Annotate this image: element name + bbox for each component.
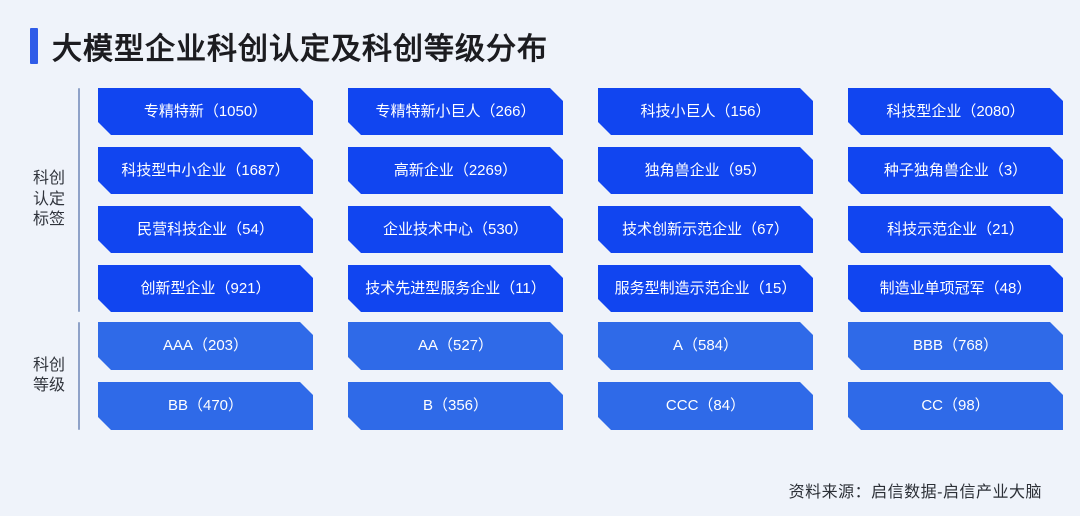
badge-label: 民营科技企业（54）: [137, 221, 274, 239]
badge-item[interactable]: 科技型企业（2080）: [848, 88, 1063, 135]
badge-label: 专精特新（1050）: [144, 103, 267, 121]
badge-label: CCC（84）: [666, 397, 745, 415]
badge-label: BB（470）: [168, 397, 243, 415]
section-innovation-grades: 科创等级 AAA（203） AA（527） A（584） BBB（768） BB…: [0, 322, 1080, 430]
badge-label: A（584）: [673, 337, 738, 355]
badge-item[interactable]: 科技型中小企业（1687）: [98, 147, 313, 194]
badge-row: 民营科技企业（54） 企业技术中心（530） 技术创新示范企业（67） 科技示范…: [98, 206, 1080, 253]
badge-item[interactable]: 技术创新示范企业（67）: [598, 206, 813, 253]
section-axis-label: 科创等级: [32, 322, 66, 430]
section-axis: 科创认定标签: [0, 88, 80, 312]
badge-label: CC（98）: [921, 397, 989, 415]
badge-item[interactable]: 服务型制造示范企业（15）: [598, 265, 813, 312]
badge-item[interactable]: 制造业单项冠军（48）: [848, 265, 1063, 312]
badge-item[interactable]: CCC（84）: [598, 382, 813, 430]
badge-item[interactable]: 种子独角兽企业（3）: [848, 147, 1063, 194]
badge-item[interactable]: 专精特新小巨人（266）: [348, 88, 563, 135]
badge-label: 服务型制造示范企业（15）: [615, 280, 797, 298]
badge-item[interactable]: 科技小巨人（156）: [598, 88, 813, 135]
badge-item[interactable]: BBB（768）: [848, 322, 1063, 370]
badge-item[interactable]: AA（527）: [348, 322, 563, 370]
badge-row: 科技型中小企业（1687） 高新企业（2269） 独角兽企业（95） 种子独角兽…: [98, 147, 1080, 194]
badge-label: B（356）: [423, 397, 488, 415]
badge-row: AAA（203） AA（527） A（584） BBB（768）: [98, 322, 1080, 370]
badge-label: 科技型中小企业（1687）: [121, 162, 289, 180]
badge-item[interactable]: B（356）: [348, 382, 563, 430]
page-title: 大模型企业科创认定及科创等级分布: [52, 24, 548, 68]
source-note: 资料来源：启信数据-启信产业大脑: [789, 478, 1042, 502]
badge-item[interactable]: 技术先进型服务企业（11）: [348, 265, 563, 312]
section-axis: 科创等级: [0, 322, 80, 430]
badge-label: 种子独角兽企业（3）: [884, 162, 1027, 180]
badge-item[interactable]: 独角兽企业（95）: [598, 147, 813, 194]
badge-label: 企业技术中心（530）: [383, 221, 528, 239]
badge-label: 专精特新小巨人（266）: [375, 103, 535, 121]
badge-item[interactable]: 创新型企业（921）: [98, 265, 313, 312]
page-header: 大模型企业科创认定及科创等级分布: [0, 0, 1080, 68]
badge-rows: AAA（203） AA（527） A（584） BBB（768） BB（470）…: [80, 322, 1080, 430]
badge-row: 专精特新（1050） 专精特新小巨人（266） 科技小巨人（156） 科技型企业…: [98, 88, 1080, 135]
badge-item[interactable]: 高新企业（2269）: [348, 147, 563, 194]
badge-label: BBB（768）: [913, 337, 998, 355]
badge-item[interactable]: A（584）: [598, 322, 813, 370]
badge-item[interactable]: 民营科技企业（54）: [98, 206, 313, 253]
badge-row: BB（470） B（356） CCC（84） CC（98）: [98, 382, 1080, 430]
badge-label: 科技示范企业（21）: [887, 221, 1024, 239]
badge-label: 科技小巨人（156）: [640, 103, 770, 121]
badge-item[interactable]: 科技示范企业（21）: [848, 206, 1063, 253]
section-certification-labels: 科创认定标签 专精特新（1050） 专精特新小巨人（266） 科技小巨人（156…: [0, 88, 1080, 312]
badge-rows: 专精特新（1050） 专精特新小巨人（266） 科技小巨人（156） 科技型企业…: [80, 88, 1080, 312]
section-axis-label: 科创认定标签: [32, 88, 66, 312]
badge-label: 独角兽企业（95）: [645, 162, 767, 180]
badge-label: 技术先进型服务企业（11）: [365, 280, 546, 298]
badge-label: 制造业单项冠军（48）: [880, 280, 1032, 298]
badge-label: 技术创新示范企业（67）: [622, 221, 789, 239]
chart-body: 科创认定标签 专精特新（1050） 专精特新小巨人（266） 科技小巨人（156…: [0, 88, 1080, 430]
badge-label: 创新型企业（921）: [140, 280, 270, 298]
badge-item[interactable]: 企业技术中心（530）: [348, 206, 563, 253]
badge-item[interactable]: AAA（203）: [98, 322, 313, 370]
badge-item[interactable]: 专精特新（1050）: [98, 88, 313, 135]
badge-label: 高新企业（2269）: [394, 162, 517, 180]
badge-item[interactable]: CC（98）: [848, 382, 1063, 430]
badge-row: 创新型企业（921） 技术先进型服务企业（11） 服务型制造示范企业（15） 制…: [98, 265, 1080, 312]
badge-item[interactable]: BB（470）: [98, 382, 313, 430]
badge-label: AAA（203）: [163, 337, 248, 355]
badge-label: AA（527）: [418, 337, 493, 355]
badge-label: 科技型企业（2080）: [886, 103, 1024, 121]
title-accent-bar: [30, 28, 38, 64]
